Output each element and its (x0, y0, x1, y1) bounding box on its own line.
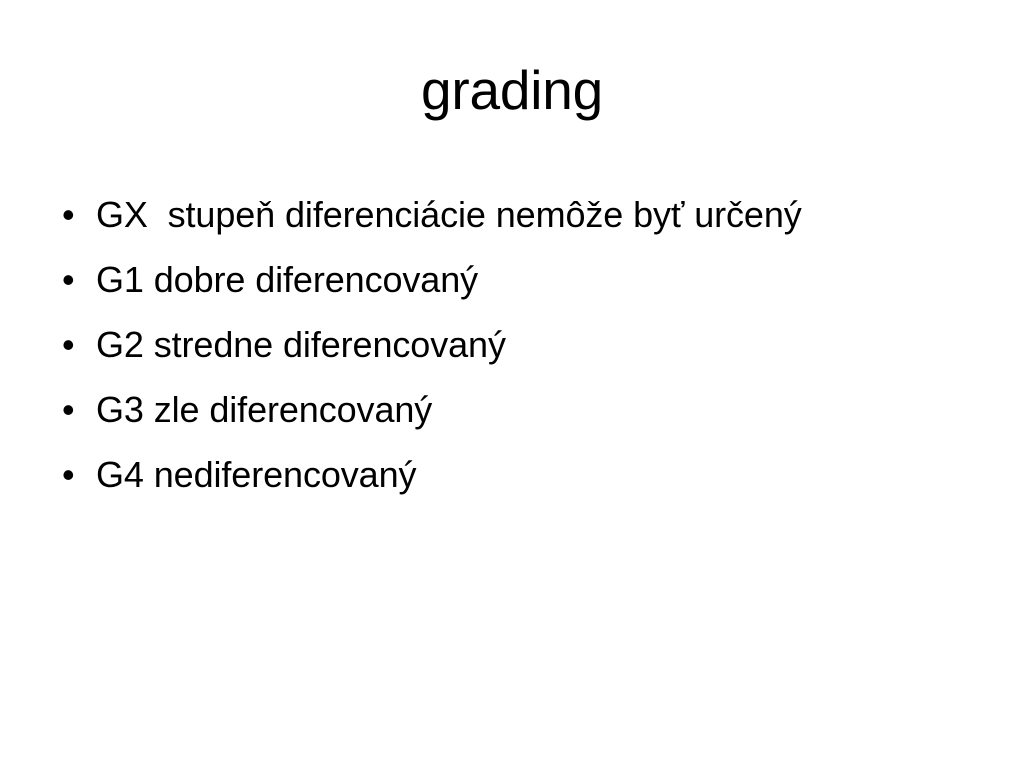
list-item-label: G3 zle diferencovaný (96, 377, 968, 442)
list-item-label: GX stupeň diferenciácie nemôže byť určen… (96, 182, 968, 247)
list-item-label: G2 stredne diferencovaný (96, 312, 968, 377)
bullet-dot-icon: • (56, 247, 96, 312)
list-item-label: G4 nediferencovaný (96, 442, 968, 507)
list-item: • GX stupeň diferenciácie nemôže byť urč… (56, 182, 968, 247)
bullet-dot-icon: • (56, 442, 96, 507)
page-title: grading (421, 62, 603, 120)
slide-body: • GX stupeň diferenciácie nemôže byť urč… (56, 182, 968, 507)
slide-title-area: grading (0, 52, 1024, 130)
list-item: • G4 nediferencovaný (56, 442, 968, 507)
list-item: • G3 zle diferencovaný (56, 377, 968, 442)
list-item: • G2 stredne diferencovaný (56, 312, 968, 377)
presentation-slide: grading • GX stupeň diferenciácie nemôže… (0, 0, 1024, 767)
bullet-dot-icon: • (56, 312, 96, 377)
list-item: • G1 dobre diferencovaný (56, 247, 968, 312)
bullet-dot-icon: • (56, 182, 96, 247)
list-item-label: G1 dobre diferencovaný (96, 247, 968, 312)
bullet-list: • GX stupeň diferenciácie nemôže byť urč… (56, 182, 968, 507)
bullet-dot-icon: • (56, 377, 96, 442)
